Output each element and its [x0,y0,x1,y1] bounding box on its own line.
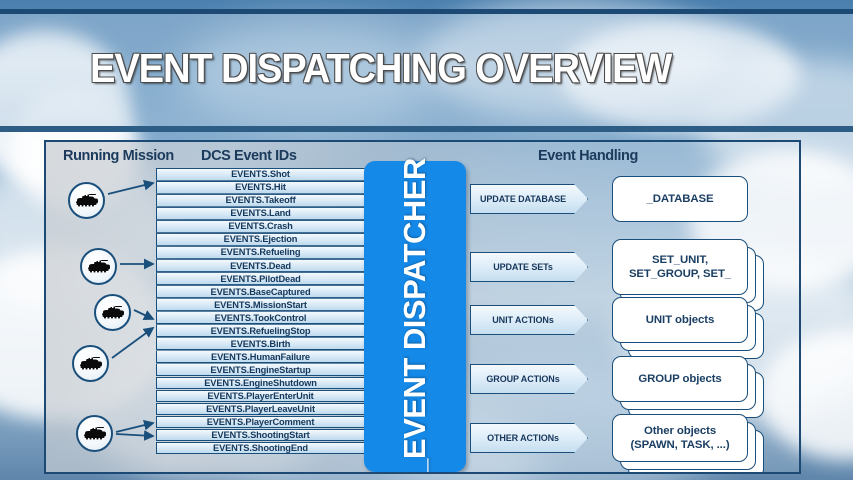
event-id-label: EVENTS.Ejection [157,234,364,244]
event-id-row[interactable]: EVENTS.Takeoff [156,194,374,207]
handling-object-label: Other objects(SPAWN, TASK, ...) [630,424,729,452]
event-id-row[interactable]: EVENTS.PlayerComment [156,416,374,429]
event-id-row[interactable]: EVENTS.EngineShutdown [156,377,374,390]
event-dispatcher-block[interactable]: _EVENT DISPATCHER [364,161,466,472]
handling-object-box[interactable]: Other objects(SPAWN, TASK, ...) [612,414,748,462]
handling-action-label: UPDATE DATABASE [471,194,587,204]
handling-object-line: UNIT objects [646,313,714,327]
handling-object-box[interactable]: _DATABASE [612,176,748,222]
handling-object-line: SET_GROUP, SET_ [629,267,731,281]
title-band-bottom-rule [0,126,853,132]
event-id-label: EVENTS.Refueling [157,247,364,257]
event-id-label: EVENTS.EngineStartup [157,365,364,375]
event-id-row[interactable]: EVENTS.Dead [156,259,374,272]
handling-object-label: SET_UNIT,SET_GROUP, SET_ [629,253,731,281]
title-band-top-rule [0,9,853,14]
event-id-row[interactable]: EVENTS.Shot [156,168,374,181]
handling-object-stack: SET_UNIT,SET_GROUP, SET_ [612,239,748,295]
event-id-label: EVENTS.EngineShutdown [157,378,364,388]
handling-object-box[interactable]: GROUP objects [612,356,748,402]
event-id-row[interactable]: EVENTS.Land [156,207,374,220]
event-handling-row: UPDATE DATABASE_DATABASE [470,176,760,222]
handling-action-label: GROUP ACTIONs [471,374,587,384]
handling-object-line: SET_UNIT, [629,253,731,267]
event-id-row[interactable]: EVENTS.HumanFailure [156,350,374,363]
event-handling-row: UPDATE SETsSET_UNIT,SET_GROUP, SET_ [470,239,760,295]
content-panel: Running Mission DCS Event IDs Event Hand… [44,140,801,474]
event-id-row[interactable]: EVENTS.MissionStart [156,298,374,311]
handling-action-label: OTHER ACTIONs [471,433,587,443]
handling-object-line: _DATABASE [646,192,713,206]
event-id-label: EVENTS.Hit [157,182,364,192]
event-handling-row: GROUP ACTIONsGROUP objects [470,356,760,402]
event-id-label: EVENTS.MissionStart [157,300,364,310]
handling-object-line: (SPAWN, TASK, ...) [630,438,729,452]
handling-object-label: GROUP objects [638,372,721,386]
event-id-row[interactable]: EVENTS.BaseCaptured [156,285,374,298]
handling-action-banner[interactable]: UNIT ACTIONs [470,305,588,335]
event-id-label: EVENTS.Dead [157,261,364,271]
event-id-row[interactable]: EVENTS.Birth [156,337,374,350]
handling-object-line: Other objects [630,424,729,438]
event-id-row[interactable]: EVENTS.PlayerLeaveUnit [156,403,374,416]
event-id-row[interactable]: EVENTS.PilotDead [156,272,374,285]
handling-object-box[interactable]: SET_UNIT,SET_GROUP, SET_ [612,239,748,295]
page-title: EVENT DISPATCHING OVERVIEW [90,46,671,90]
event-id-label: EVENTS.RefuelingStop [157,326,364,336]
event-id-label: EVENTS.HumanFailure [157,352,364,362]
handling-action-label: UPDATE SETs [471,262,587,272]
event-handling-row: OTHER ACTIONsOther objects(SPAWN, TASK, … [470,414,760,462]
event-handling-row: UNIT ACTIONsUNIT objects [470,297,760,343]
event-id-label: EVENTS.PlayerComment [157,417,364,427]
event-id-row[interactable]: EVENTS.Ejection [156,233,374,246]
handling-object-line: GROUP objects [638,372,721,386]
event-id-label: EVENTS.Shot [157,169,364,179]
event-id-row[interactable]: EVENTS.PlayerEnterUnit [156,390,374,403]
event-id-row[interactable]: EVENTS.TookControl [156,311,374,324]
event-id-label: EVENTS.ShootingStart [157,430,364,440]
handling-action-banner[interactable]: UPDATE SETs [470,252,588,282]
handling-object-stack: GROUP objects [612,356,748,402]
event-id-label: EVENTS.TookControl [157,313,364,323]
event-id-row[interactable]: EVENTS.Refueling [156,246,374,259]
event-id-row[interactable]: EVENTS.Crash [156,220,374,233]
event-id-row[interactable]: EVENTS.EngineStartup [156,363,374,376]
handling-action-label: UNIT ACTIONs [471,315,587,325]
event-id-list: EVENTS.ShotEVENTS.HitEVENTS.TakeoffEVENT… [156,168,374,455]
event-id-label: EVENTS.Takeoff [157,195,364,205]
event-id-label: EVENTS.Crash [157,221,364,231]
event-id-row[interactable]: EVENTS.RefuelingStop [156,324,374,337]
handling-action-banner[interactable]: GROUP ACTIONs [470,364,588,394]
event-id-label: EVENTS.ShootingEnd [157,443,364,453]
event-id-label: EVENTS.Land [157,208,364,218]
handling-object-stack: _DATABASE [612,176,748,222]
event-id-row[interactable]: EVENTS.ShootingStart [156,429,374,442]
event-id-label: EVENTS.PilotDead [157,274,364,284]
event-dispatcher-label: _EVENT DISPATCHER [397,158,433,474]
handling-object-label: UNIT objects [646,313,714,327]
handling-object-box[interactable]: UNIT objects [612,297,748,343]
event-id-label: EVENTS.Birth [157,339,364,349]
event-id-row[interactable]: EVENTS.Hit [156,181,374,194]
handling-action-banner[interactable]: OTHER ACTIONs [470,423,588,453]
event-id-row[interactable]: EVENTS.ShootingEnd [156,442,374,455]
event-id-label: EVENTS.PlayerEnterUnit [157,391,364,401]
handling-object-label: _DATABASE [646,192,713,206]
event-id-label: EVENTS.BaseCaptured [157,287,364,297]
handling-action-banner[interactable]: UPDATE DATABASE [470,184,588,214]
slide-canvas: EVENT DISPATCHING OVERVIEW Running Missi… [0,0,853,480]
event-id-label: EVENTS.PlayerLeaveUnit [157,404,364,414]
handling-object-stack: Other objects(SPAWN, TASK, ...) [612,414,748,462]
handling-object-stack: UNIT objects [612,297,748,343]
